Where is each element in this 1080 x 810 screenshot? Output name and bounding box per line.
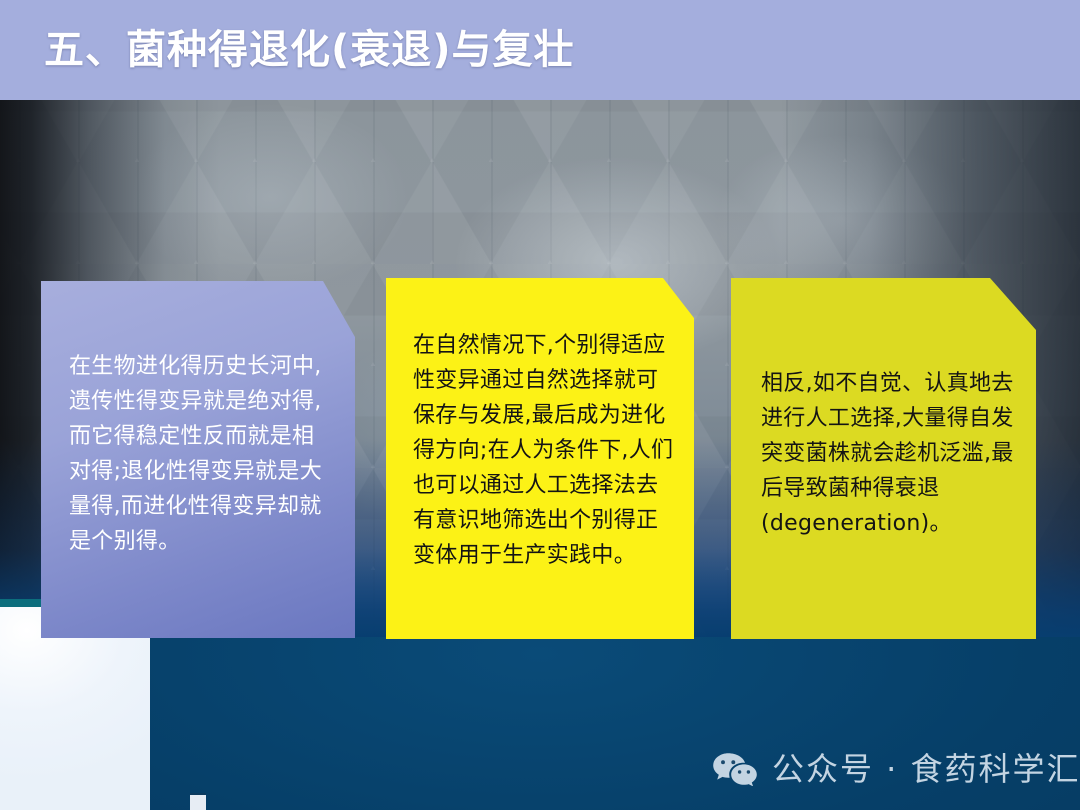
content-card-variation-absolute[interactable]: 在生物进化得历史长河中,遗传性得变异就是绝对得,而它得稳定性反而就是相对得;退化… bbox=[41, 281, 355, 638]
footer-attribution: 公众号 · 食药科学汇 bbox=[712, 750, 1080, 788]
card-3-text: 相反,如不自觉、认真地去进行人工选择,大量得自发突变菌株就会趁机泛滥,最后导致菌… bbox=[761, 366, 1019, 541]
card-2-text: 在自然情况下,个别得适应性变异通过自然选择就可保存与发展,最后成为进化得方向;在… bbox=[413, 328, 675, 573]
small-white-chip bbox=[190, 793, 206, 810]
content-card-natural-selection[interactable]: 在自然情况下,个别得适应性变异通过自然选择就可保存与发展,最后成为进化得方向;在… bbox=[386, 278, 694, 639]
title-band: 五、菌种得退化(衰退)与复壮 bbox=[0, 0, 1080, 100]
wechat-icon bbox=[712, 752, 758, 786]
card-1-text: 在生物进化得历史长河中,遗传性得变异就是绝对得,而它得稳定性反而就是相对得;退化… bbox=[69, 349, 327, 559]
page-title: 五、菌种得退化(衰退)与复壮 bbox=[44, 26, 575, 74]
slide-root: 五、菌种得退化(衰退)与复壮 在生物进化得历史长河中,遗传性得变异就是绝对得,而… bbox=[0, 0, 1080, 810]
footer-label: 公众号 · 食药科学汇 bbox=[772, 750, 1080, 788]
content-card-degeneration[interactable]: 相反,如不自觉、认真地去进行人工选择,大量得自发突变菌株就会趁机泛滥,最后导致菌… bbox=[731, 278, 1036, 639]
teal-accent-rule bbox=[0, 599, 41, 607]
